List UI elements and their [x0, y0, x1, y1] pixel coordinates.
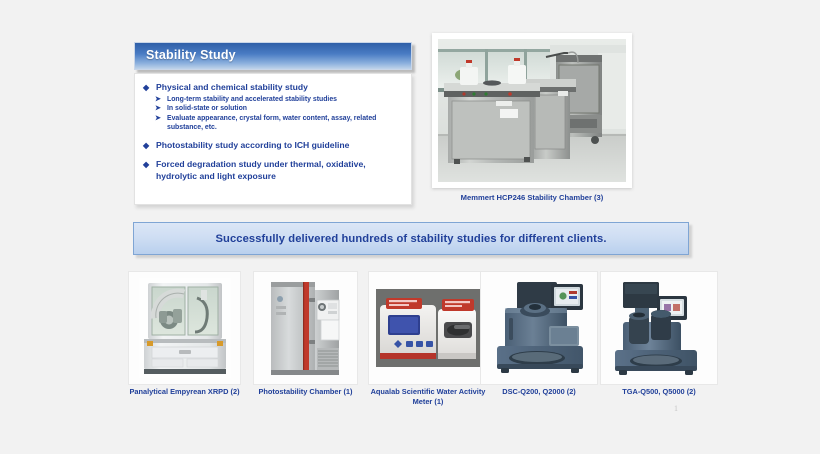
achievement-banner: Successfully delivered hundreds of stabi… [133, 222, 689, 255]
diamond-bullet-icon: ◆ [143, 140, 156, 152]
bullet-item: ➤ Long-term stability and accelerated st… [155, 95, 407, 105]
stability-study-title-bar: Stability Study [134, 42, 412, 70]
bullet-text: Forced degradation study under thermal, … [156, 159, 407, 182]
bullet-text: Evaluate appearance, crystal form, water… [167, 114, 407, 133]
instrument-caption-xrpd: Panalytical Empyrean XRPD (2) [128, 387, 241, 397]
stability-study-card: Stability Study ◆ Physical and chemical … [134, 42, 412, 205]
instrument-gallery: Panalytical Empyrean XRPD (2) [128, 271, 718, 391]
bullet-item: ◆ Forced degradation study under thermal… [143, 159, 407, 182]
xrpd-instrument-icon [139, 278, 231, 378]
bullet-item: ➤ In solid-state or solution [155, 104, 407, 114]
bullet-text: Photostability study according to ICH gu… [156, 140, 407, 152]
instrument-card-xrpd[interactable] [128, 271, 241, 385]
diamond-bullet-icon: ◆ [143, 159, 156, 171]
stability-study-title: Stability Study [146, 48, 236, 62]
stability-bullet-list: ◆ Physical and chemical stability study … [135, 74, 413, 183]
diamond-bullet-icon: ◆ [143, 82, 156, 94]
stability-study-body: ◆ Physical and chemical stability study … [134, 73, 412, 205]
instrument-card-water-activity[interactable] [368, 271, 488, 385]
instrument-caption-photostability: Photostability Chamber (1) [253, 387, 358, 397]
bullet-item: ◆ Photostability study according to ICH … [143, 140, 407, 152]
bullet-item: ➤ Evaluate appearance, crystal form, wat… [155, 114, 407, 133]
bullet-text: In solid-state or solution [167, 104, 407, 114]
arrow-bullet-icon: ➤ [155, 104, 167, 114]
tga-instrument-icon [609, 278, 709, 378]
spacer [143, 152, 407, 159]
stability-chamber-photo-frame [432, 33, 632, 188]
photostability-chamber-icon [267, 278, 345, 378]
bullet-text: Physical and chemical stability study [156, 82, 407, 94]
bullet-text: Long-term stability and accelerated stab… [167, 95, 407, 105]
spacer [143, 133, 407, 140]
arrow-bullet-icon: ➤ [155, 114, 167, 124]
slide-canvas: Stability Study ◆ Physical and chemical … [0, 0, 820, 454]
instrument-card-photostability[interactable] [253, 271, 358, 385]
dsc-instrument-icon [487, 278, 591, 378]
stability-chamber-photo-caption: Memmert HCP246 Stability Chamber (3) [432, 193, 632, 202]
page-number: 1 [674, 404, 678, 413]
water-activity-meter-icon [376, 289, 480, 367]
bullet-item: ◆ Physical and chemical stability study [143, 82, 407, 94]
laboratory-stability-chamber-photo [438, 39, 626, 182]
instrument-card-dsc[interactable] [480, 271, 598, 385]
instrument-caption-tga: TGA-Q500, Q5000 (2) [600, 387, 718, 397]
instrument-card-tga[interactable] [600, 271, 718, 385]
arrow-bullet-icon: ➤ [155, 95, 167, 105]
achievement-banner-text: Successfully delivered hundreds of stabi… [215, 233, 606, 245]
instrument-caption-water-activity: Aqualab Scientific Water Activity Meter … [368, 387, 488, 407]
instrument-caption-dsc: DSC-Q200, Q2000 (2) [480, 387, 598, 397]
